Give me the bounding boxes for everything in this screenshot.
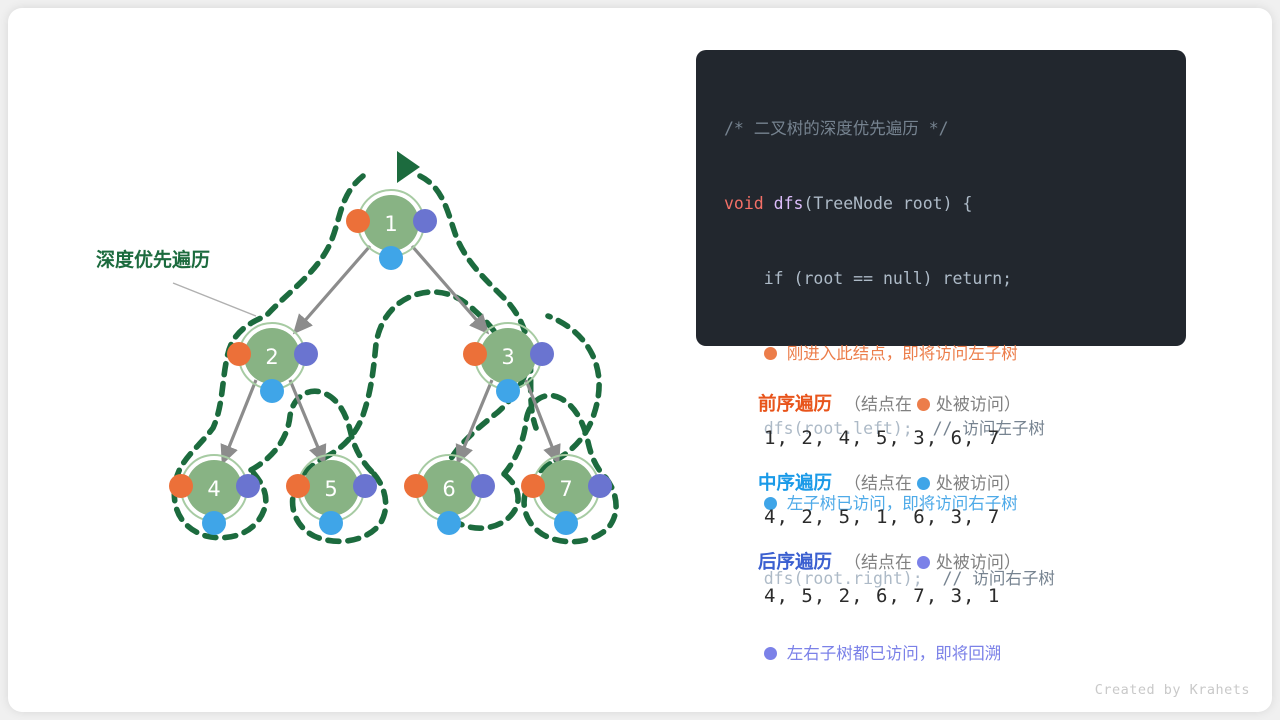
in-order-dot	[379, 246, 403, 270]
pre-order-dot	[346, 209, 370, 233]
result-title-preorder: 前序遍历	[758, 394, 832, 415]
pre-order-dot	[521, 474, 545, 498]
result-title-postorder: 后序遍历	[758, 552, 832, 573]
code-fn-dfs: dfs	[764, 194, 804, 213]
result-sequence-postorder: 4, 5, 2, 6, 7, 3, 1	[758, 578, 1178, 614]
edge-3-7	[526, 380, 558, 462]
node-label: 5	[324, 477, 337, 501]
result-header-preorder: 前序遍历（结点在 处被访问）	[758, 390, 1178, 420]
tree-node-3[interactable]: 3	[463, 323, 554, 403]
result-group-inorder: 中序遍历（结点在 处被访问） 4, 2, 5, 1, 6, 3, 7	[758, 469, 1178, 535]
result-header-inorder: 中序遍历（结点在 处被访问）	[758, 469, 1178, 499]
code-note-postorder: 左右子树都已访问，即将回溯	[724, 641, 1186, 666]
annotation-leader-line	[173, 283, 256, 316]
in-order-dot	[496, 379, 520, 403]
edge-1-2	[295, 246, 370, 332]
post-order-dot-icon	[764, 647, 777, 660]
pre-order-dot	[227, 342, 251, 366]
code-snippet: /* 二叉树的深度优先遍历 */ void dfs(TreeNode root)…	[696, 50, 1186, 346]
in-order-dot	[554, 511, 578, 535]
pre-order-dot	[169, 474, 193, 498]
tree-node-4[interactable]: 4	[169, 455, 260, 535]
credit-text: Created by Krahets	[1095, 682, 1250, 698]
tree-nodes: 1 2 3	[169, 190, 612, 535]
node-label: 3	[501, 345, 514, 369]
code-keyword-void: void	[724, 194, 764, 213]
post-order-dot	[588, 474, 612, 498]
result-note-inorder: （结点在 处被访问）	[844, 474, 1021, 494]
node-label: 7	[559, 477, 572, 501]
pre-order-dot	[404, 474, 428, 498]
post-order-dot	[530, 342, 554, 366]
pre-order-dot-icon	[764, 347, 777, 360]
pre-order-dot-icon	[917, 398, 930, 411]
code-line-nullcheck: if (root == null) return;	[724, 266, 1186, 291]
node-label: 2	[265, 345, 278, 369]
code-note-postorder-text: 左右子树都已访问，即将回溯	[787, 644, 1002, 663]
play-arrow-marker-icon	[397, 151, 420, 183]
result-group-preorder: 前序遍历（结点在 处被访问） 1, 2, 4, 5, 3, 6, 7	[758, 390, 1178, 456]
code-note-preorder-text: 刚进入此结点，即将访问左子树	[787, 344, 1018, 363]
in-order-dot-icon	[917, 477, 930, 490]
pre-order-dot	[286, 474, 310, 498]
edge-1-3	[412, 246, 487, 332]
result-note-suffix: 处被访问）	[936, 395, 1021, 415]
result-note-postorder: （结点在 处被访问）	[844, 553, 1021, 573]
in-order-dot	[437, 511, 461, 535]
in-order-dot	[202, 511, 226, 535]
result-header-postorder: 后序遍历（结点在 处被访问）	[758, 548, 1178, 578]
node-label: 6	[442, 477, 455, 501]
result-note-prefix: （结点在	[844, 474, 912, 494]
binary-tree-svg: 1 2 3	[8, 8, 688, 712]
code-line-comment-header: /* 二叉树的深度优先遍历 */	[724, 116, 1186, 141]
result-note-prefix: （结点在	[844, 395, 912, 415]
code-signature-rest: (TreeNode root) {	[804, 194, 973, 213]
post-order-dot	[413, 209, 437, 233]
edge-2-4	[223, 380, 256, 462]
result-note-suffix: 处被访问）	[936, 553, 1021, 573]
result-sequence-preorder: 1, 2, 4, 5, 3, 6, 7	[758, 420, 1178, 456]
code-note-preorder: 刚进入此结点，即将访问左子树	[724, 341, 1186, 366]
figure-card: 1 2 3	[8, 8, 1272, 712]
pre-order-dot	[463, 342, 487, 366]
result-sequence-inorder: 4, 2, 5, 1, 6, 3, 7	[758, 499, 1178, 535]
traversal-results: 前序遍历（结点在 处被访问） 1, 2, 4, 5, 3, 6, 7 中序遍历（…	[758, 390, 1178, 627]
in-order-dot	[260, 379, 284, 403]
dfs-annotation-label: 深度优先遍历	[96, 248, 210, 271]
result-title-inorder: 中序遍历	[758, 473, 832, 494]
post-order-dot	[471, 474, 495, 498]
in-order-dot	[319, 511, 343, 535]
post-order-dot	[294, 342, 318, 366]
result-note-suffix: 处被访问）	[936, 474, 1021, 494]
tree-node-6[interactable]: 6	[404, 455, 495, 535]
post-order-dot-icon	[917, 556, 930, 569]
node-label: 1	[384, 212, 397, 236]
result-note-preorder: （结点在 处被访问）	[844, 395, 1021, 415]
post-order-dot	[236, 474, 260, 498]
result-note-prefix: （结点在	[844, 553, 912, 573]
result-group-postorder: 后序遍历（结点在 处被访问） 4, 5, 2, 6, 7, 3, 1	[758, 548, 1178, 614]
node-label: 4	[207, 477, 220, 501]
post-order-dot	[353, 474, 377, 498]
code-line-signature: void dfs(TreeNode root) {	[724, 191, 1186, 216]
tree-diagram-panel: 1 2 3	[8, 8, 688, 712]
